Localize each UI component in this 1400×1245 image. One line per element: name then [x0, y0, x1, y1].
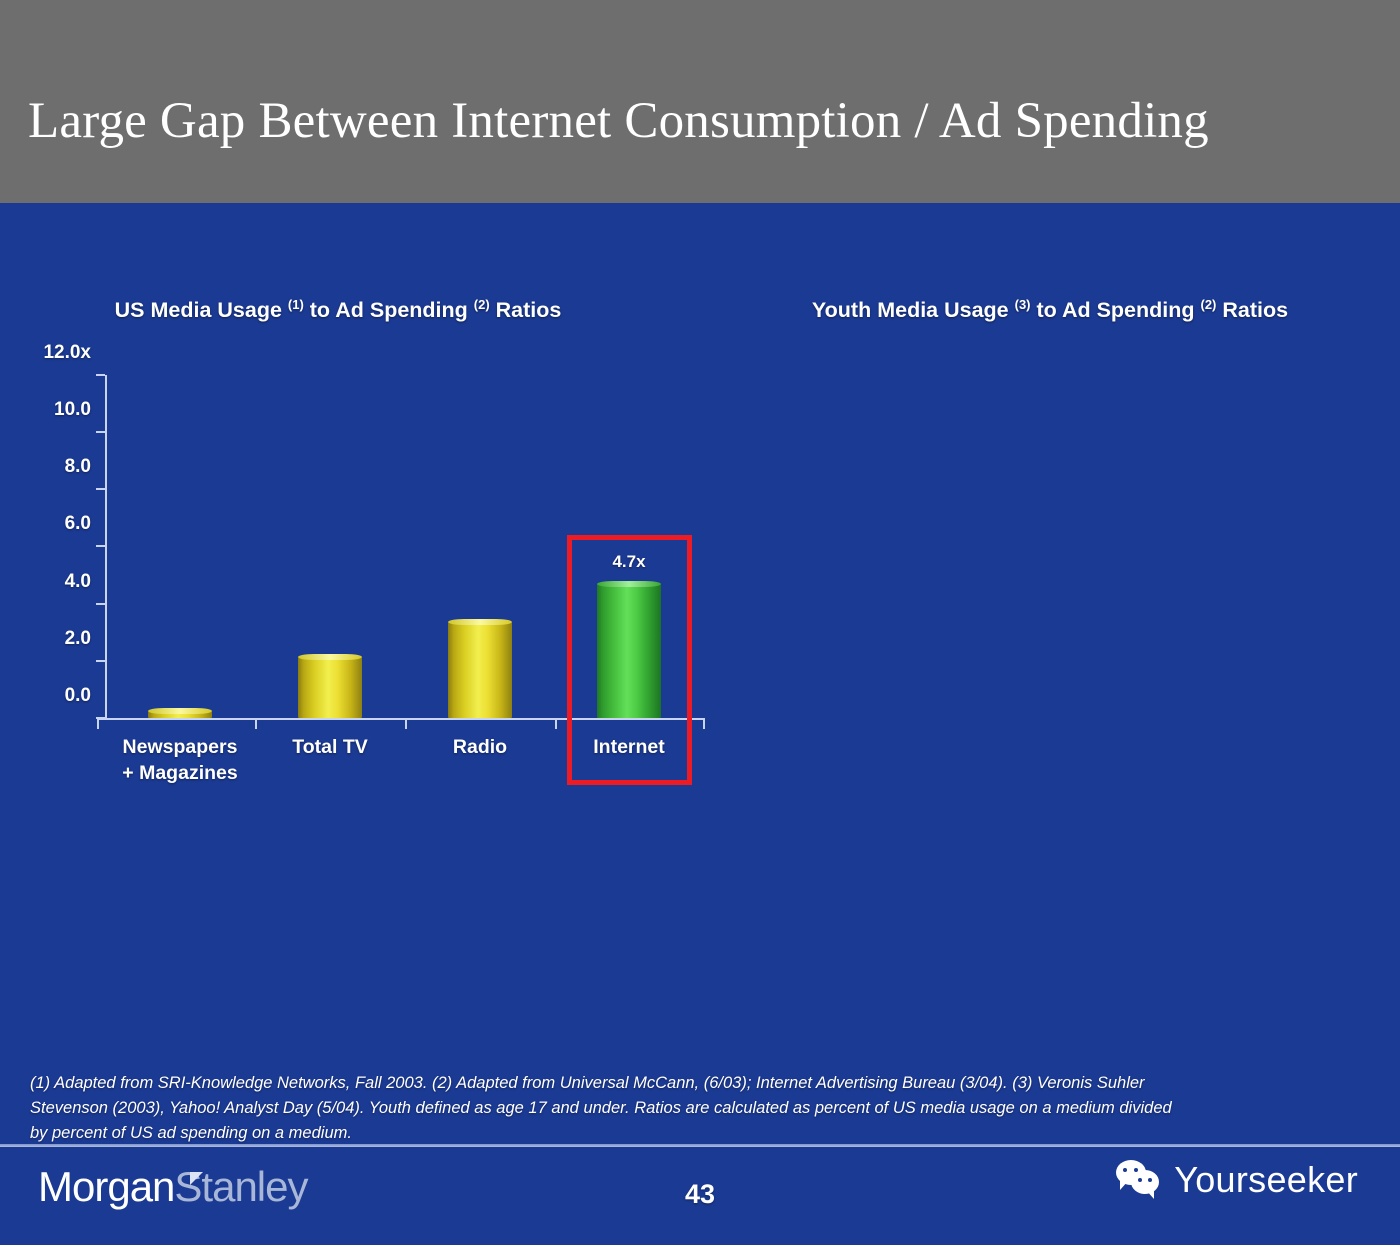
chart-title-segment: Ratios	[1216, 298, 1288, 322]
y-tick	[96, 431, 105, 433]
wechat-bubble-front	[1131, 1170, 1159, 1194]
y-tick-label: 12.0x	[43, 342, 91, 364]
chart-title-segment: Ratios	[490, 298, 562, 322]
bar-cap	[298, 654, 362, 660]
chart-panel-youth-media-usage: Youth Media Usage (3) to Ad Spending (2)…	[700, 203, 1400, 803]
x-tick	[255, 718, 257, 729]
chart-title-segment: Youth Media Usage	[812, 298, 1015, 322]
x-label-newspapers-magazines: Newspapers + Magazines	[122, 734, 237, 786]
page-title: Large Gap Between Internet Consumption /…	[28, 92, 1209, 150]
x-label-radio: Radio	[453, 734, 507, 760]
x-label-line: Radio	[453, 734, 507, 760]
footnote-ref-3: (3)	[1015, 297, 1031, 312]
y-tick-label: 6.0	[65, 513, 91, 535]
footnote-line: Stevenson (2003), Yahoo! Analyst Day (5/…	[30, 1096, 1370, 1121]
slide-header: Large Gap Between Internet Consumption /…	[0, 0, 1400, 203]
bar-total-tv	[298, 657, 362, 718]
x-label-line: Total TV	[292, 734, 367, 760]
x-tick	[555, 718, 557, 729]
x-label-total-tv: Total TV	[292, 734, 367, 760]
bar-newspapers-magazines	[148, 711, 212, 718]
chart-title-segment: to Ad Spending	[304, 298, 474, 322]
y-axis	[105, 375, 107, 718]
x-label-line: + Magazines	[122, 760, 237, 786]
brand-watermark: Yourseeker	[1116, 1159, 1358, 1201]
y-tick	[96, 603, 105, 605]
plot-area-us-media-usage: 0.0 2.0 4.0 6.0 8.0 10.0 12.0x 4.7x Ne	[105, 375, 705, 718]
footnotes: (1) Adapted from SRI-Knowledge Networks,…	[30, 1071, 1370, 1146]
chart-title-us-media-usage: US Media Usage (1) to Ad Spending (2) Ra…	[0, 288, 700, 327]
footnote-line: by percent of US ad spending on a medium…	[30, 1121, 1370, 1146]
y-tick	[96, 545, 105, 547]
y-tick	[96, 374, 105, 376]
footnote-ref-2: (2)	[474, 297, 490, 312]
highlight-box-internet	[567, 535, 692, 785]
y-tick	[96, 488, 105, 490]
footnote-ref-2: (2)	[1200, 297, 1216, 312]
brand-name: Yourseeker	[1174, 1159, 1358, 1201]
slide-footer: MorganStanley 43 Yourseeker	[0, 1147, 1400, 1245]
y-tick-label: 2.0	[65, 628, 91, 650]
y-tick-label: 8.0	[65, 456, 91, 478]
x-label-line: Newspapers	[122, 734, 237, 760]
footnote-ref-1: (1)	[288, 297, 304, 312]
y-tick	[96, 660, 105, 662]
y-tick-label: 4.0	[65, 571, 91, 593]
chart-panel-us-media-usage: US Media Usage (1) to Ad Spending (2) Ra…	[0, 203, 700, 803]
bar-radio	[448, 622, 512, 718]
x-tick	[405, 718, 407, 729]
x-tick	[97, 718, 99, 729]
y-tick-label: 0.0	[65, 685, 91, 707]
bar-cap	[448, 619, 512, 625]
footnote-line: (1) Adapted from SRI-Knowledge Networks,…	[30, 1071, 1370, 1096]
chart-title-youth-media-usage: Youth Media Usage (3) to Ad Spending (2)…	[700, 288, 1400, 327]
wechat-icon	[1116, 1160, 1164, 1200]
bar-cap	[148, 708, 212, 714]
chart-title-segment: US Media Usage	[115, 298, 288, 322]
chart-title-segment: to Ad Spending	[1031, 298, 1201, 322]
y-tick-label: 10.0	[54, 399, 91, 421]
slide-body: US Media Usage (1) to Ad Spending (2) Ra…	[0, 203, 1400, 1042]
